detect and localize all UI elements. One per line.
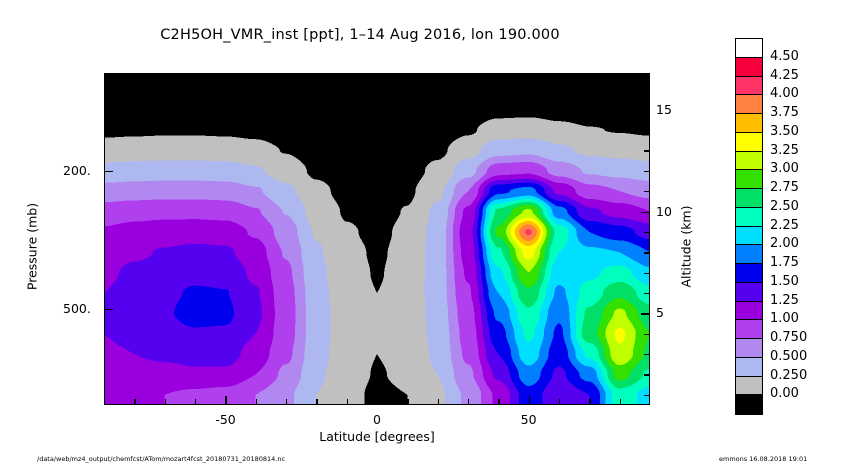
altitude-minor-tick [644,354,650,355]
colorbar-tick-label: 1.00 [770,311,799,326]
colorbar-tick-label: 2.50 [770,199,799,214]
colorbar-band [736,95,762,114]
altitude-minor-tick [644,191,650,192]
x-minor-tick [165,399,166,405]
x-minor-tick [407,399,408,405]
x-top-minor-tick [256,73,257,79]
colorbar-tick-label: 1.25 [770,293,799,308]
altitude-minor-tick [644,89,650,90]
colorbar-tick-label: 1.75 [770,255,799,270]
colorbar-tick-label: 3.75 [770,105,799,120]
colorbar-band [736,377,762,396]
x-top-minor-tick [407,73,408,79]
colorbar-band [736,170,762,189]
colorbar-band [736,339,762,358]
altitude-minor-tick [644,374,650,375]
colorbar-band [736,133,762,152]
x-minor-tick [498,399,499,405]
altitude-tick-label: 15 [656,102,672,117]
right-axis-title: Altitude (km) [679,187,694,307]
x-minor-tick [134,399,135,405]
y-tick-label: 500. [63,301,91,316]
x-minor-tick [256,399,257,405]
author-timestamp-footer: emmons 16.08.2018 19:01 [719,455,807,463]
colorbar-tick-label: 3.50 [770,124,799,139]
colorbar-tick-label: 0.750 [770,330,807,345]
source-path-footer: /data/web/mz4_output/chemfcst/ATom/mozar… [37,455,285,463]
x-minor-tick [559,399,560,405]
x-top-minor-tick [589,73,590,79]
altitude-minor-tick [644,232,650,233]
colorbar-tick-label: 1.50 [770,274,799,289]
colorbar-tick-label: 0.250 [770,368,807,383]
colorbar-band [736,227,762,246]
colorbar-band [736,320,762,339]
colorbar-band [736,189,762,208]
altitude-minor-tick [644,150,650,151]
x-top-minor-tick [165,73,166,79]
x-top-minor-tick [134,73,135,79]
x-minor-tick [589,399,590,405]
x-top-minor-tick [195,73,196,79]
x-major-tick [529,396,531,405]
altitude-minor-tick [644,273,650,274]
x-top-minor-tick [347,73,348,79]
y-major-tick [104,309,113,311]
altitude-minor-tick [644,130,650,131]
x-axis-title: Latitude [degrees] [104,429,650,444]
colorbar-band [736,283,762,302]
colorbar-tick-label: 4.25 [770,68,799,83]
x-minor-tick [347,399,348,405]
contour-plot-canvas [104,73,650,405]
altitude-tick-label: 5 [656,305,664,320]
colorbar-tick-label: 3.25 [770,143,799,158]
x-top-minor-tick [498,73,499,79]
x-top-minor-tick [225,73,226,79]
altitude-minor-tick [644,334,650,335]
colorbar-tick-label: 4.00 [770,86,799,101]
altitude-minor-tick [644,171,650,172]
colorbar-tick-label: 4.50 [770,49,799,64]
x-major-tick [377,396,379,405]
colorbar-band [736,208,762,227]
x-top-minor-tick [316,73,317,79]
colorbar-band [736,395,762,414]
colorbar-band [736,302,762,321]
x-tick-label: 50 [521,412,537,427]
y-axis-title: Pressure (mb) [25,187,40,307]
x-top-minor-tick [559,73,560,79]
altitude-major-tick [641,110,650,112]
x-top-minor-tick [468,73,469,79]
x-minor-tick [468,399,469,405]
x-tick-label: -50 [215,412,235,427]
altitude-major-tick [641,313,650,315]
x-minor-tick [286,399,287,405]
x-top-minor-tick [529,73,530,79]
x-top-minor-tick [286,73,287,79]
y-major-tick [104,171,113,173]
x-top-minor-tick [438,73,439,79]
colorbar-tick-label: 0.500 [770,349,807,364]
colorbar-tick-label: 3.00 [770,161,799,176]
x-tick-label: 0 [373,412,381,427]
colorbar-band [736,358,762,377]
x-top-minor-tick [377,73,378,79]
x-major-tick [225,396,227,405]
colorbar-tick-label: 0.00 [770,386,799,401]
colorbar-band [736,114,762,133]
altitude-minor-tick [644,293,650,294]
colorbar-band [736,58,762,77]
colorbar[interactable] [735,38,763,415]
x-minor-tick [316,399,317,405]
colorbar-tick-label: 2.00 [770,236,799,251]
colorbar-band [736,77,762,96]
colorbar-band [736,152,762,171]
colorbar-tick-label: 2.75 [770,180,799,195]
altitude-minor-tick [644,395,650,396]
altitude-tick-label: 10 [656,204,672,219]
x-minor-tick [620,399,621,405]
x-minor-tick [438,399,439,405]
page-title: C2H5OH_VMR_inst [ppt], 1–14 Aug 2016, lo… [0,27,720,43]
x-top-minor-tick [620,73,621,79]
colorbar-tick-label: 2.25 [770,218,799,233]
y-tick-label: 200. [63,163,91,178]
altitude-major-tick [641,212,650,214]
x-minor-tick [195,399,196,405]
colorbar-band [736,245,762,264]
colorbar-band [736,39,762,58]
contour-plot-figure: C2H5OH_VMR_inst [ppt], 1–14 Aug 2016, lo… [0,0,864,471]
altitude-minor-tick [644,252,650,253]
colorbar-band [736,264,762,283]
